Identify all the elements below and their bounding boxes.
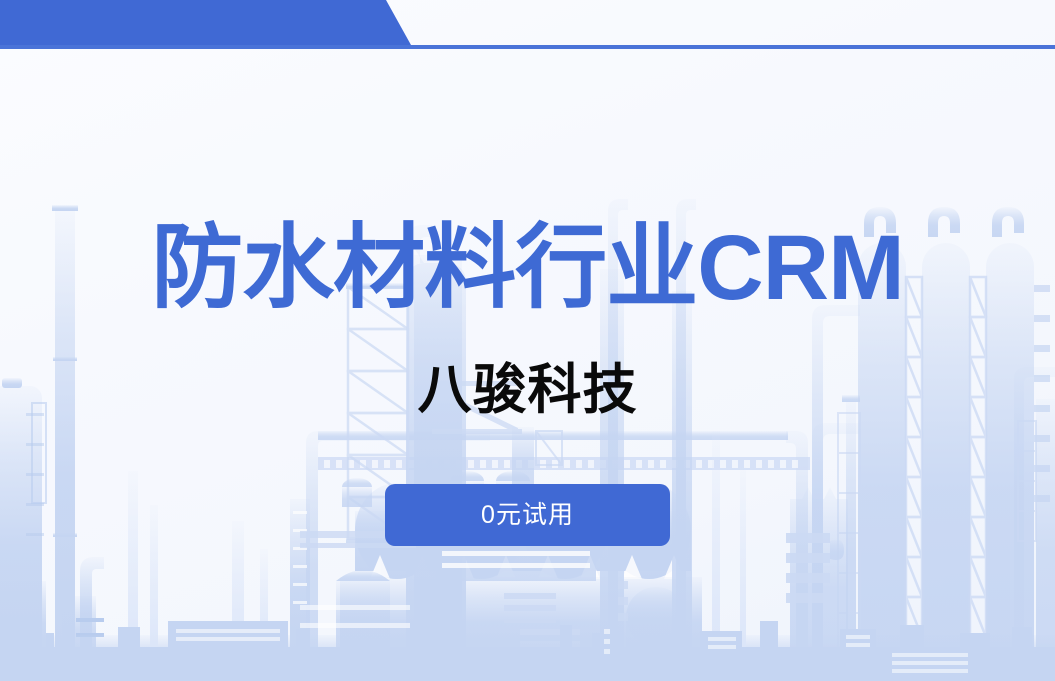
free-trial-button[interactable]: 0元试用	[385, 484, 670, 546]
page-title: 防水材料行业CRM	[0, 222, 1055, 314]
promo-banner: 防水材料行业CRM 八骏科技 0元试用	[0, 0, 1055, 681]
brand-subtitle: 八骏科技	[0, 363, 1055, 417]
cta-container: 0元试用	[0, 484, 1055, 546]
banner-content: 防水材料行业CRM 八骏科技 0元试用	[0, 0, 1055, 681]
